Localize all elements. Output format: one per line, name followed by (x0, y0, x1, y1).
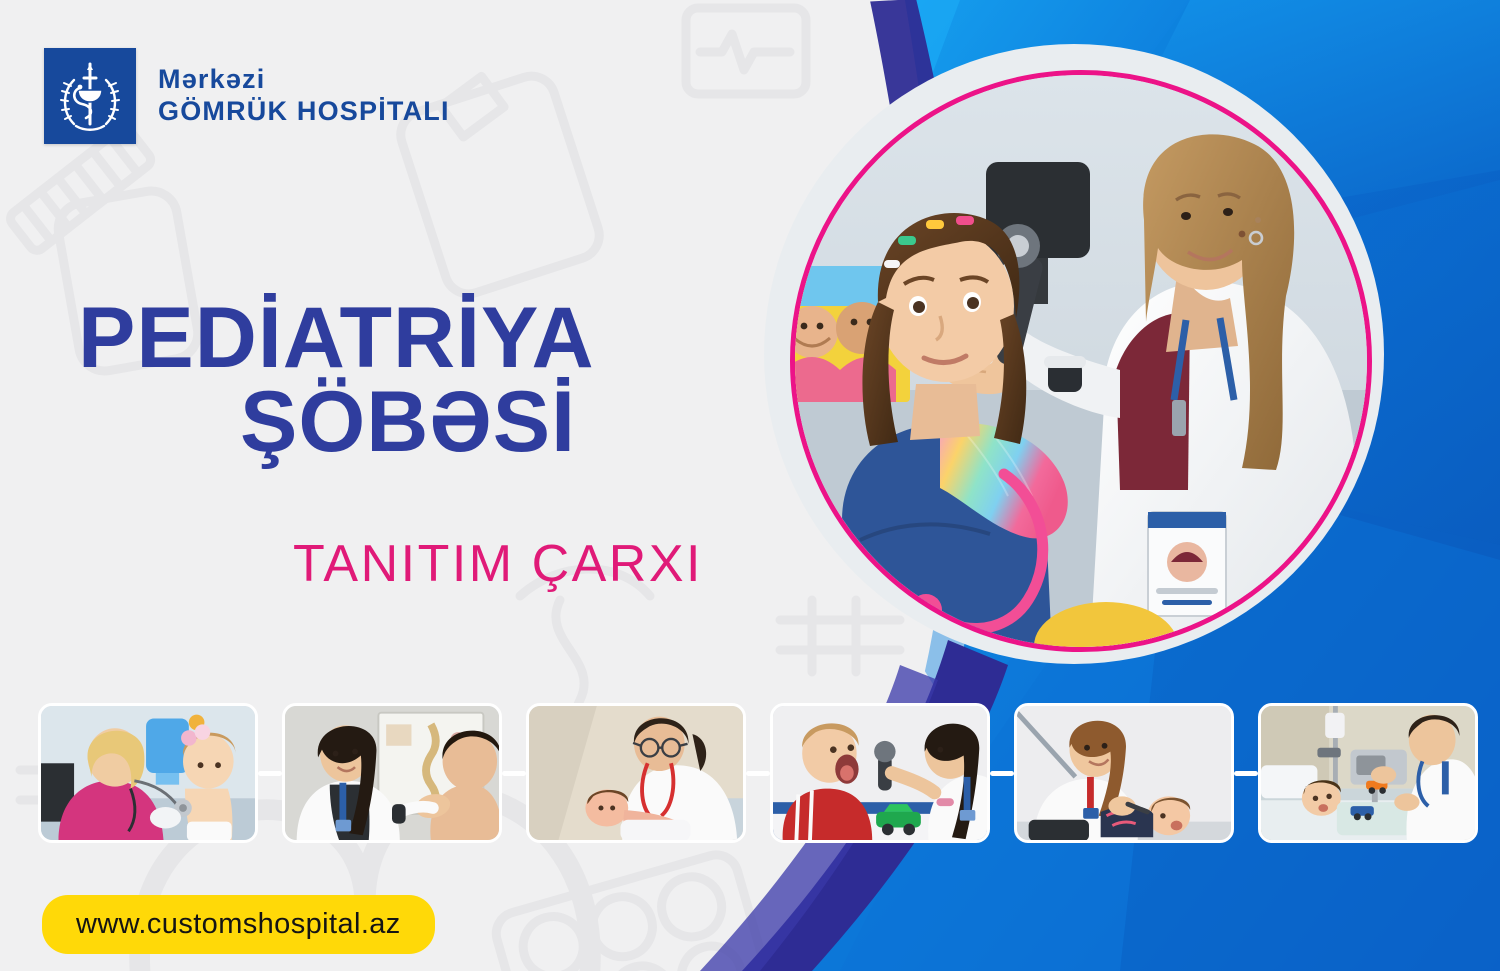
brand-name: Mərkəzi GÖMRÜK HOSPİTALI (158, 64, 450, 128)
page-subtitle: TANITIM ÇARXI (78, 534, 818, 594)
thumb5-illustration (1017, 706, 1231, 840)
caduceus-sword-wreath-icon (54, 58, 126, 134)
thumbnail-connector (1234, 771, 1258, 776)
thumb1-illustration (41, 706, 255, 840)
thumbnail-photo-2[interactable] (282, 703, 502, 843)
hospital-emblem-icon (44, 48, 136, 144)
thumb4-illustration (773, 706, 987, 840)
thumb6-illustration (1261, 706, 1475, 840)
hero-photo-frame (790, 70, 1372, 652)
thumbnail-connector (502, 771, 526, 776)
page-title: PEDİATRİYA ŞÖBƏSİ (78, 296, 718, 465)
thumbnail-photo-5[interactable] (1014, 703, 1234, 843)
promo-banner: Mərkəzi GÖMRÜK HOSPİTALI PEDİATRİYA ŞÖBƏ… (0, 0, 1500, 971)
thumbnail-connector (258, 771, 282, 776)
brand-logo[interactable]: Mərkəzi GÖMRÜK HOSPİTALI (44, 48, 450, 144)
page-title-line2: ŞÖBƏSİ (78, 380, 718, 464)
thumb3-illustration (529, 706, 743, 840)
page-title-line1: PEDİATRİYA (78, 296, 718, 380)
brand-name-line1: Mərkəzi (158, 64, 450, 96)
thumbnail-connector (746, 771, 770, 776)
thumbnail-connector (990, 771, 1014, 776)
brand-name-line2: GÖMRÜK HOSPİTALI (158, 96, 450, 128)
hero-illustration (790, 70, 1372, 652)
thumbnail-strip (38, 703, 1468, 843)
thumb2-illustration (285, 706, 499, 840)
website-url[interactable]: www.customshospital.az (42, 895, 435, 954)
thumbnail-photo-3[interactable] (526, 703, 746, 843)
thumbnail-photo-6[interactable] (1258, 703, 1478, 843)
thumbnail-photo-1[interactable] (38, 703, 258, 843)
thumbnail-photo-4[interactable] (770, 703, 990, 843)
pediatric-ear-exam-photo (790, 70, 1372, 652)
